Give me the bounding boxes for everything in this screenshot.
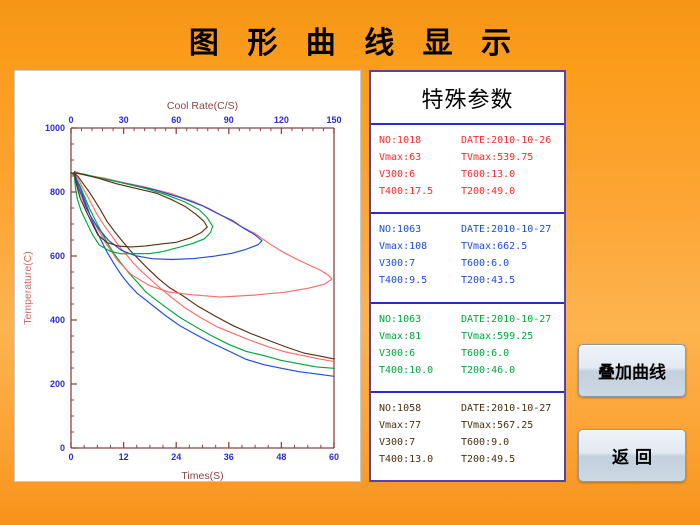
- param-date: DATE:2010-10-27: [461, 400, 564, 417]
- param-v300: V300:6: [379, 166, 461, 183]
- svg-text:600: 600: [50, 251, 65, 261]
- param-tvmax: TVmax:567.25: [461, 417, 564, 434]
- svg-text:0: 0: [68, 452, 73, 462]
- svg-text:24: 24: [171, 452, 181, 462]
- param-date: DATE:2010-10-27: [461, 311, 564, 328]
- param-t200: T200:46.0: [461, 362, 564, 379]
- param-t600: T600:6.0: [461, 255, 564, 272]
- param-tvmax: TVmax:539.75: [461, 149, 564, 166]
- overlay-curves-button[interactable]: 叠加曲线: [578, 344, 686, 397]
- param-v300: V300:6: [379, 345, 461, 362]
- special-parameters-panel: 特殊参数 NO:1018 DATE:2010-10-26 Vmax:63 TVm…: [369, 70, 566, 482]
- param-no: NO:1063: [379, 311, 461, 328]
- param-t400: T400:17.5: [379, 183, 461, 200]
- param-t400: T400:13.0: [379, 451, 461, 468]
- param-t200: T200:49.5: [461, 451, 564, 468]
- param-block-3[interactable]: NO:1058 DATE:2010-10-27 Vmax:77 TVmax:56…: [371, 393, 564, 480]
- param-tvmax: TVmax:599.25: [461, 328, 564, 345]
- param-t400: T400:9.5: [379, 272, 461, 289]
- curve-chart: 0306090120150Cool Rate(C/S)01224364860Ti…: [15, 71, 362, 483]
- svg-text:90: 90: [224, 115, 234, 125]
- svg-text:60: 60: [329, 452, 339, 462]
- param-t400: T400:10.0: [379, 362, 461, 379]
- return-button[interactable]: 返回: [578, 429, 686, 482]
- svg-text:0: 0: [60, 443, 65, 453]
- param-no: NO:1018: [379, 132, 461, 149]
- param-date: DATE:2010-10-26: [461, 132, 564, 149]
- svg-text:30: 30: [119, 115, 129, 125]
- param-t600: T600:9.0: [461, 434, 564, 451]
- param-block-1[interactable]: NO:1063 DATE:2010-10-27 Vmax:108 TVmax:6…: [371, 214, 564, 303]
- param-v300: V300:7: [379, 255, 461, 272]
- chart-panel: 0306090120150Cool Rate(C/S)01224364860Ti…: [14, 70, 361, 482]
- param-t600: T600:13.0: [461, 166, 564, 183]
- param-v300: V300:7: [379, 434, 461, 451]
- svg-text:400: 400: [50, 315, 65, 325]
- param-t200: T200:43.5: [461, 272, 564, 289]
- svg-text:48: 48: [276, 452, 286, 462]
- svg-text:60: 60: [171, 115, 181, 125]
- param-block-0[interactable]: NO:1018 DATE:2010-10-26 Vmax:63 TVmax:53…: [371, 125, 564, 214]
- svg-text:12: 12: [119, 452, 129, 462]
- param-no: NO:1063: [379, 221, 461, 238]
- svg-text:800: 800: [50, 187, 65, 197]
- params-panel-header: 特殊参数: [371, 72, 564, 125]
- svg-text:Temperature(C): Temperature(C): [22, 251, 34, 325]
- svg-text:120: 120: [274, 115, 289, 125]
- param-no: NO:1058: [379, 400, 461, 417]
- svg-text:36: 36: [224, 452, 234, 462]
- svg-text:150: 150: [326, 115, 341, 125]
- param-t600: T600:6.0: [461, 345, 564, 362]
- param-t200: T200:49.0: [461, 183, 564, 200]
- param-vmax: Vmax:81: [379, 328, 461, 345]
- param-tvmax: TVmax:662.5: [461, 238, 564, 255]
- svg-text:200: 200: [50, 379, 65, 389]
- page-title: 图 形 曲 线 显 示: [0, 18, 700, 62]
- param-vmax: Vmax:63: [379, 149, 461, 166]
- param-block-2[interactable]: NO:1063 DATE:2010-10-27 Vmax:81 TVmax:59…: [371, 304, 564, 393]
- svg-text:Cool Rate(C/S): Cool Rate(C/S): [167, 100, 238, 112]
- svg-text:0: 0: [68, 115, 73, 125]
- param-vmax: Vmax:77: [379, 417, 461, 434]
- svg-text:Times(S): Times(S): [181, 470, 223, 482]
- param-date: DATE:2010-10-27: [461, 221, 564, 238]
- param-vmax: Vmax:108: [379, 238, 461, 255]
- svg-text:1000: 1000: [45, 123, 65, 133]
